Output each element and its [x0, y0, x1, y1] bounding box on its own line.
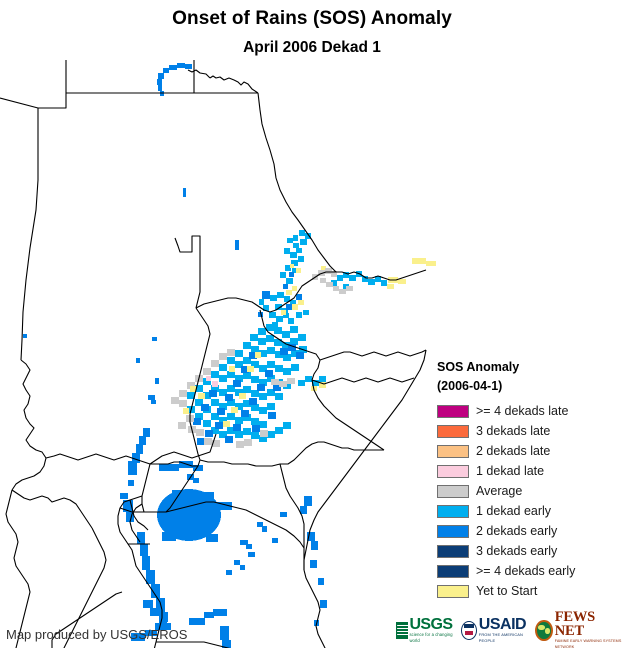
legend-label: >= 4 dekads late — [476, 404, 568, 418]
anomaly-raster — [23, 63, 436, 648]
logo-row: USGS science for a changing world USAID … — [396, 610, 624, 648]
usgs-tagline: science for a changing world — [409, 632, 454, 644]
legend-color-swatch — [437, 525, 469, 538]
legend-row[interactable]: 1 dekad early — [437, 501, 617, 521]
map-page: Onset of Rains (SOS) Anomaly April 2006 … — [0, 0, 624, 648]
legend-row[interactable]: >= 4 dekads late — [437, 401, 617, 421]
legend: SOS Anomaly (2006-04-1) >= 4 dekads late… — [437, 358, 617, 601]
usgs-wordmark: USGS — [409, 617, 454, 632]
legend-label: 1 dekad late — [476, 464, 544, 478]
legend-color-swatch — [437, 445, 469, 458]
legend-row[interactable]: 1 dekad late — [437, 461, 617, 481]
legend-title: SOS Anomaly — [437, 358, 617, 377]
country-boundaries — [0, 60, 426, 648]
usaid-seal-icon — [461, 621, 477, 640]
legend-row[interactable]: 2 dekads late — [437, 441, 617, 461]
usgs-logo[interactable]: USGS science for a changing world — [396, 617, 455, 644]
legend-color-swatch — [437, 425, 469, 438]
page-title: Onset of Rains (SOS) Anomaly — [0, 6, 624, 32]
page-subtitle: April 2006 Dekad 1 — [0, 36, 624, 60]
legend-label: >= 4 dekads early — [476, 564, 575, 578]
legend-label: 3 dekads early — [476, 544, 557, 558]
legend-row[interactable]: >= 4 dekads early — [437, 561, 617, 581]
legend-color-swatch — [437, 585, 469, 598]
fews-globe-icon — [535, 620, 552, 641]
usaid-tagline: FROM THE AMERICAN PEOPLE — [479, 632, 529, 644]
legend-color-swatch — [437, 505, 469, 518]
legend-label: 2 dekads early — [476, 524, 557, 538]
fewsnet-logo[interactable]: FEWS NET FAMINE EARLY WARNING SYSTEMS NE… — [535, 610, 624, 648]
legend-row[interactable]: 3 dekads late — [437, 421, 617, 441]
legend-label: Average — [476, 484, 522, 498]
legend-color-swatch — [437, 485, 469, 498]
usgs-wave-icon — [396, 622, 408, 639]
legend-items: >= 4 dekads late3 dekads late2 dekads la… — [437, 401, 617, 601]
legend-color-swatch — [437, 465, 469, 478]
legend-row[interactable]: Average — [437, 481, 617, 501]
map-credit: Map produced by USGS/EROS — [6, 627, 187, 642]
legend-color-swatch — [437, 545, 469, 558]
legend-label: 3 dekads late — [476, 424, 550, 438]
title-block: Onset of Rains (SOS) Anomaly April 2006 … — [0, 6, 624, 60]
legend-row[interactable]: Yet to Start — [437, 581, 617, 601]
legend-row[interactable]: 2 dekads early — [437, 521, 617, 541]
legend-row[interactable]: 3 dekads early — [437, 541, 617, 561]
legend-date: (2006-04-1) — [437, 377, 617, 396]
fewsnet-wordmark: FEWS NET — [555, 610, 624, 638]
fewsnet-tagline: FAMINE EARLY WARNING SYSTEMS NETWORK — [555, 638, 624, 648]
legend-label: 1 dekad early — [476, 504, 551, 518]
usaid-wordmark: USAID — [479, 617, 529, 632]
legend-color-swatch — [437, 565, 469, 578]
legend-label: 2 dekads late — [476, 444, 550, 458]
legend-color-swatch — [437, 405, 469, 418]
legend-label: Yet to Start — [476, 584, 537, 598]
usaid-logo[interactable]: USAID FROM THE AMERICAN PEOPLE — [461, 617, 529, 644]
